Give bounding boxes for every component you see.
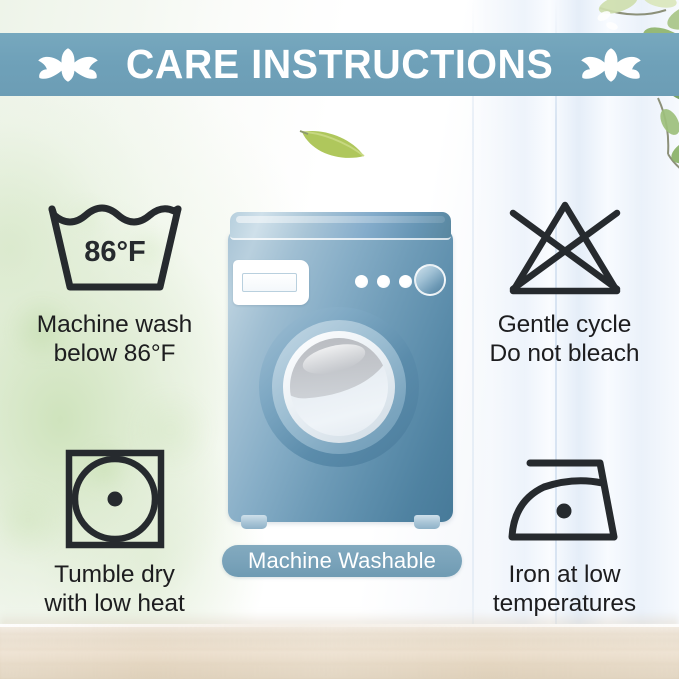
machine-foot <box>414 515 440 529</box>
fleur-de-lis-icon <box>37 42 99 88</box>
machine-door-outer-ring <box>259 307 419 467</box>
care-symbol-caption: Machine wash below 86°F <box>7 311 222 368</box>
control-indicator-lights <box>355 275 412 288</box>
washing-machine-illustration <box>228 212 453 522</box>
care-symbol-caption: Gentle cycle Do not bleach <box>457 311 672 368</box>
caption-line-2: with low heat <box>7 590 222 619</box>
wood-grain-texture <box>0 624 679 679</box>
machine-door-inner-ring <box>283 331 395 443</box>
caption-line-1: Iron at low <box>457 561 672 590</box>
caption-line-1: Gentle cycle <box>457 311 672 340</box>
caption-line-2: Do not bleach <box>457 340 672 369</box>
machine-door-glass <box>290 338 388 436</box>
wooden-table-surface <box>0 624 679 679</box>
page-title: CARE INSTRUCTIONS <box>126 44 553 85</box>
header-banner: CARE INSTRUCTIONS <box>0 33 679 96</box>
fleur-de-lis-icon <box>580 42 642 88</box>
decorative-plant-branch <box>540 0 679 199</box>
care-symbol-tumble-dry: Tumble dry with low heat <box>7 443 222 618</box>
caption-line-2: temperatures <box>457 590 672 619</box>
icon-container <box>457 443 672 555</box>
icon-container <box>7 443 222 555</box>
care-symbol-caption: Iron at low temperatures <box>457 561 672 618</box>
machine-door-mid-ring <box>272 320 406 454</box>
indicator-light <box>399 275 412 288</box>
indicator-light <box>377 275 390 288</box>
floating-leaf-icon <box>298 122 368 166</box>
machine-body <box>228 229 453 522</box>
detergent-drawer-slot <box>242 273 297 292</box>
iron-icon <box>502 453 628 545</box>
caption-line-1: Machine wash <box>7 311 222 340</box>
care-symbol-do-not-bleach: Gentle cycle Do not bleach <box>457 193 672 368</box>
wash-temperature-value: 86°F <box>84 236 146 268</box>
caption-line-1: Tumble dry <box>7 561 222 590</box>
care-symbol-caption: Tumble dry with low heat <box>7 561 222 618</box>
machine-washable-badge: Machine Washable <box>222 545 462 577</box>
care-instructions-infographic: CARE INSTRUCTIONS 86°F Machine wash belo… <box>0 0 679 679</box>
machine-top-lid <box>230 212 451 240</box>
badge-label: Machine Washable <box>248 548 436 574</box>
program-dial <box>414 264 446 296</box>
machine-foot <box>241 515 267 529</box>
caption-line-2: below 86°F <box>7 340 222 369</box>
icon-container <box>457 193 672 305</box>
indicator-light <box>355 275 368 288</box>
icon-container: 86°F <box>7 193 222 305</box>
care-symbol-iron: Iron at low temperatures <box>457 443 672 618</box>
tumble-dry-square-circle-icon <box>63 447 167 551</box>
triangle-crossed-out-icon <box>505 197 625 301</box>
wash-tub-icon: 86°F <box>44 199 186 299</box>
care-symbol-machine-wash: 86°F Machine wash below 86°F <box>7 193 222 368</box>
detergent-drawer <box>233 260 309 305</box>
